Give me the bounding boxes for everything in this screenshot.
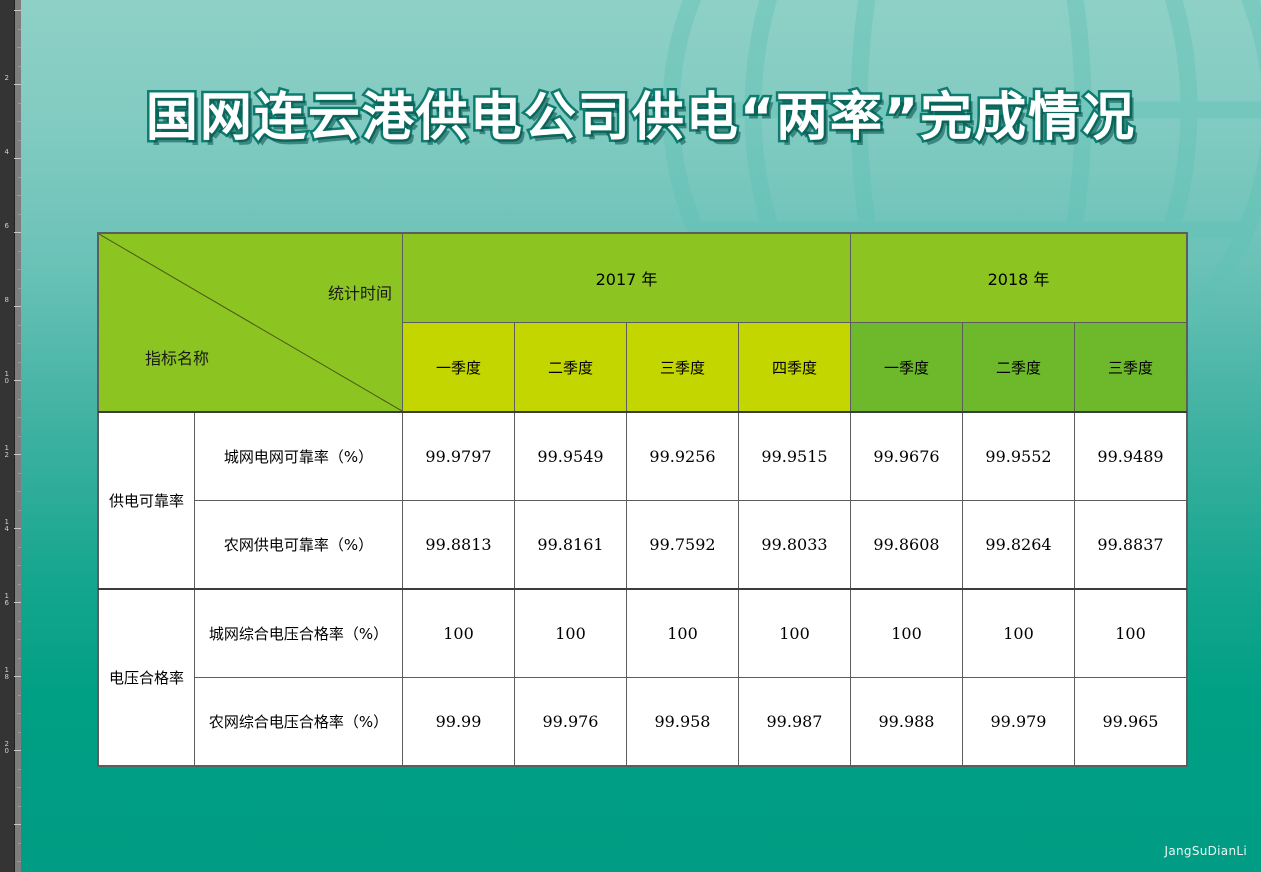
quarter-header-2017-q3: 三季度 [627, 323, 739, 413]
cell-1-0-4: 100 [851, 589, 963, 678]
two-rate-table: 统计时间 指标名称 2017 年 2018 年 一季度 二季度 三季度 四季度 … [98, 233, 1187, 766]
cell-1-0-2: 100 [627, 589, 739, 678]
ruler-tick [17, 269, 21, 270]
table-row: 农网供电可靠率（%） 99.8813 99.8161 99.7592 99.80… [99, 501, 1187, 590]
ruler-tick [14, 10, 21, 11]
ruler-number: 10 [1, 371, 12, 385]
ruler-tick [14, 824, 21, 825]
cell-1-1-5: 99.979 [963, 678, 1075, 766]
row-group-label-0: 供电可靠率 [99, 412, 195, 589]
ruler-tick [14, 232, 21, 233]
ruler-tick [18, 843, 21, 844]
ruler-number: 4 [1, 149, 12, 156]
table-body: 供电可靠率 城网电网可靠率（%） 99.9797 99.9549 99.9256… [99, 412, 1187, 766]
ruler-tick [18, 214, 21, 215]
ruler-tick [18, 29, 21, 30]
ruler-tick [18, 288, 21, 289]
ruler-tick [18, 140, 21, 141]
cell-0-0-1: 99.9549 [515, 412, 627, 501]
ruler-tick [18, 584, 21, 585]
cell-0-1-1: 99.8161 [515, 501, 627, 590]
cell-0-1-6: 99.8837 [1075, 501, 1187, 590]
ruler-tick [17, 121, 21, 122]
cell-1-0-5: 100 [963, 589, 1075, 678]
ruler-number: 8 [1, 297, 12, 304]
table-row: 电压合格率 城网综合电压合格率（%） 100 100 100 100 100 1… [99, 589, 1187, 678]
ruler-number: 18 [1, 667, 12, 681]
cell-0-0-3: 99.9515 [739, 412, 851, 501]
ruler-tick [17, 491, 21, 492]
ruler-tick [17, 343, 21, 344]
metric-label-1-1: 农网综合电压合格率（%） [195, 678, 403, 766]
ruler-tick [18, 251, 21, 252]
cell-1-1-1: 99.976 [515, 678, 627, 766]
quarter-header-2017-q4: 四季度 [739, 323, 851, 413]
slide-root: 2468101214161820 国网连云港供电公司供电“两率”完成情况 [0, 0, 1261, 872]
ruler-number: 12 [1, 445, 12, 459]
ruler-tick [17, 565, 21, 566]
ruler-tick [14, 158, 21, 159]
ruler-tick [18, 399, 21, 400]
ruler-tick [17, 639, 21, 640]
cell-1-0-0: 100 [403, 589, 515, 678]
ruler-tick [14, 84, 21, 85]
cell-1-0-6: 100 [1075, 589, 1187, 678]
cell-1-0-3: 100 [739, 589, 851, 678]
slide-canvas: 国网连云港供电公司供电“两率”完成情况 统计时间 指标名称 2017 年 [21, 0, 1261, 872]
row-group-label-1: 电压合格率 [99, 589, 195, 766]
ruler-tick [18, 473, 21, 474]
data-table-wrapper: 统计时间 指标名称 2017 年 2018 年 一季度 二季度 三季度 四季度 … [98, 233, 1187, 766]
ruler-tick [18, 436, 21, 437]
ruler-tick [18, 806, 21, 807]
title-block: 国网连云港供电公司供电“两率”完成情况 [21, 86, 1261, 150]
ruler-tick [18, 510, 21, 511]
ruler-tick [17, 861, 21, 862]
ruler-tick [18, 547, 21, 548]
year-header-2018: 2018 年 [851, 234, 1187, 323]
ruler-tick [14, 602, 21, 603]
corner-bottom-label: 指标名称 [145, 345, 209, 369]
ruler-tick [14, 676, 21, 677]
ruler-tick [18, 769, 21, 770]
year-header-2017: 2017 年 [403, 234, 851, 323]
diagonal-split-icon [99, 234, 402, 411]
ruler-tick [18, 362, 21, 363]
ruler-tick [14, 528, 21, 529]
cell-1-1-4: 99.988 [851, 678, 963, 766]
cell-0-0-0: 99.9797 [403, 412, 515, 501]
cell-0-1-2: 99.7592 [627, 501, 739, 590]
cell-1-1-3: 99.987 [739, 678, 851, 766]
cell-0-0-4: 99.9676 [851, 412, 963, 501]
ruler-number: 16 [1, 593, 12, 607]
watermark-label: JangSuDianLi [1165, 844, 1248, 858]
ruler-number: 20 [1, 741, 12, 755]
ruler-number: 6 [1, 223, 12, 230]
ruler-tick [18, 695, 21, 696]
ruler-tick [18, 621, 21, 622]
ruler-tick [14, 454, 21, 455]
table-head: 统计时间 指标名称 2017 年 2018 年 一季度 二季度 三季度 四季度 … [99, 234, 1187, 413]
cell-1-1-6: 99.965 [1075, 678, 1187, 766]
cell-0-0-5: 99.9552 [963, 412, 1075, 501]
cell-0-1-5: 99.8264 [963, 501, 1075, 590]
ruler-tick [14, 306, 21, 307]
table-row: 农网综合电压合格率（%） 99.99 99.976 99.958 99.987 … [99, 678, 1187, 766]
ruler-tick [18, 325, 21, 326]
cell-0-0-2: 99.9256 [627, 412, 739, 501]
cell-1-1-0: 99.99 [403, 678, 515, 766]
quarter-header-2017-q1: 一季度 [403, 323, 515, 413]
vertical-ruler[interactable]: 2468101214161820 [0, 0, 21, 872]
ruler-tick [17, 47, 21, 48]
quarter-header-2017-q2: 二季度 [515, 323, 627, 413]
cell-1-0-1: 100 [515, 589, 627, 678]
quarter-header-2018-q3: 三季度 [1075, 323, 1187, 413]
ruler-tick [18, 658, 21, 659]
header-row-year: 统计时间 指标名称 2017 年 2018 年 [99, 234, 1187, 323]
cell-0-1-4: 99.8608 [851, 501, 963, 590]
corner-top-label: 统计时间 [328, 280, 392, 304]
table-row: 供电可靠率 城网电网可靠率（%） 99.9797 99.9549 99.9256… [99, 412, 1187, 501]
ruler-tick [14, 380, 21, 381]
ruler-tick [17, 417, 21, 418]
ruler-tick [18, 177, 21, 178]
cell-0-0-6: 99.9489 [1075, 412, 1187, 501]
page-title: 国网连云港供电公司供电“两率”完成情况 [146, 86, 1136, 150]
ruler-tick [14, 750, 21, 751]
quarter-header-2018-q2: 二季度 [963, 323, 1075, 413]
quarter-header-2018-q1: 一季度 [851, 323, 963, 413]
ruler-tick [17, 195, 21, 196]
ruler-tick [18, 66, 21, 67]
metric-label-0-0: 城网电网可靠率（%） [195, 412, 403, 501]
corner-header-cell: 统计时间 指标名称 [99, 234, 403, 413]
ruler-tick [17, 787, 21, 788]
ruler-tick [17, 713, 21, 714]
cell-0-1-0: 99.8813 [403, 501, 515, 590]
cell-0-1-3: 99.8033 [739, 501, 851, 590]
ruler-number: 14 [1, 519, 12, 533]
metric-label-0-1: 农网供电可靠率（%） [195, 501, 403, 590]
ruler-tick [18, 732, 21, 733]
metric-label-1-0: 城网综合电压合格率（%） [195, 589, 403, 678]
cell-1-1-2: 99.958 [627, 678, 739, 766]
ruler-number: 2 [1, 75, 12, 82]
ruler-tick [18, 103, 21, 104]
